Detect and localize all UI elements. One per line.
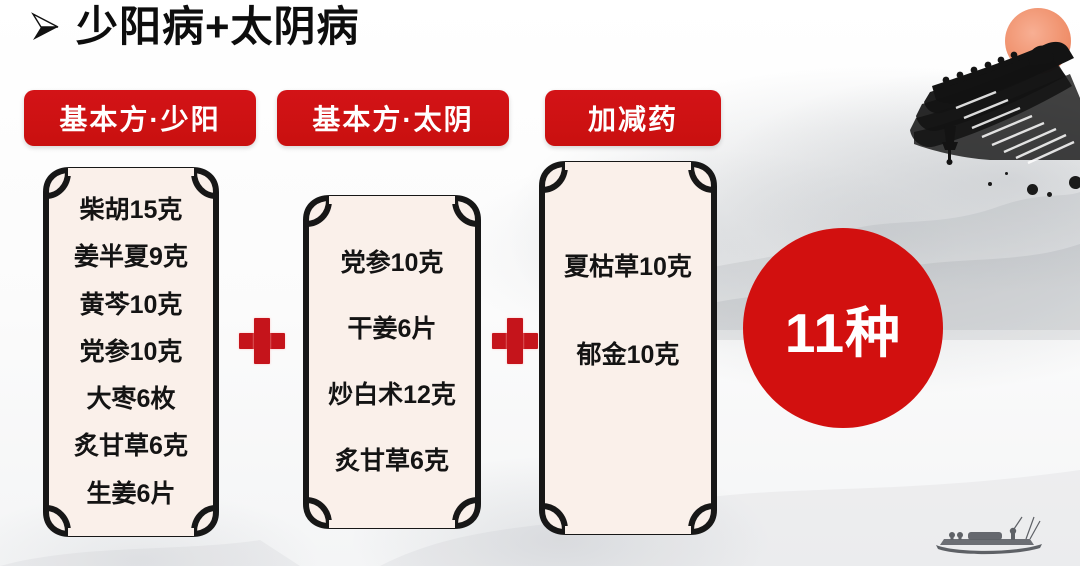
formula-card-taiyin: 党参10克 干姜6片 炒白术12克 炙甘草6克 xyxy=(302,192,482,532)
ink-splatter-dot xyxy=(1069,176,1080,189)
list-item: 干姜6片 xyxy=(348,316,437,342)
ingredient-list: 夏枯草10克 郁金10克 xyxy=(538,158,718,538)
page-title-text: 少阳病+太阴病 xyxy=(76,6,360,48)
slide-canvas: 少阳病+太阴病 基本方·少阳 基本方·太阴 加减药 柴胡15克 姜半夏9克 黄芩… xyxy=(0,0,1080,566)
ink-splatter-dot xyxy=(1047,192,1052,197)
sun-icon xyxy=(1005,8,1071,74)
ink-splatter-dot xyxy=(1027,184,1038,195)
temple-roof-eave-icon xyxy=(860,0,1080,200)
list-item: 郁金10克 xyxy=(577,342,680,368)
list-item: 夏枯草10克 xyxy=(564,254,692,280)
arrowhead-right-icon xyxy=(28,10,62,44)
plus-icon xyxy=(492,318,538,364)
header-pill-taiyin[interactable]: 基本方·太阴 xyxy=(277,90,509,146)
sail-boat-icon xyxy=(930,515,1050,560)
list-item: 党参10克 xyxy=(80,339,183,365)
ingredient-list: 党参10克 干姜6片 炒白术12克 炙甘草6克 xyxy=(302,192,482,532)
formula-card-shaoyang: 柴胡15克 姜半夏9克 黄芩10克 党参10克 大枣6枚 炙甘草6克 生姜6片 xyxy=(42,166,220,538)
page-title: 少阳病+太阴病 xyxy=(28,6,360,48)
formula-card-adjustment: 夏枯草10克 郁金10克 xyxy=(538,158,718,538)
plus-icon xyxy=(239,318,285,364)
list-item: 党参10克 xyxy=(341,250,444,276)
list-item: 炙甘草6克 xyxy=(74,433,188,459)
list-item: 姜半夏9克 xyxy=(74,244,188,270)
list-item: 大枣6枚 xyxy=(87,386,176,412)
list-item: 柴胡15克 xyxy=(80,197,183,223)
list-item: 炙甘草6克 xyxy=(335,448,449,474)
list-item: 炒白术12克 xyxy=(328,382,456,408)
ink-splatter-dot xyxy=(988,182,992,186)
list-item: 生姜6片 xyxy=(87,481,176,507)
ingredient-list: 柴胡15克 姜半夏9克 黄芩10克 党参10克 大枣6枚 炙甘草6克 生姜6片 xyxy=(42,166,220,538)
list-item: 黄芩10克 xyxy=(80,292,183,318)
header-pill-adjustment[interactable]: 加减药 xyxy=(545,90,721,146)
header-pill-shaoyang[interactable]: 基本方·少阳 xyxy=(24,90,256,146)
ink-splatter-dot xyxy=(1005,172,1008,175)
total-count-badge: 11种 xyxy=(743,228,943,428)
